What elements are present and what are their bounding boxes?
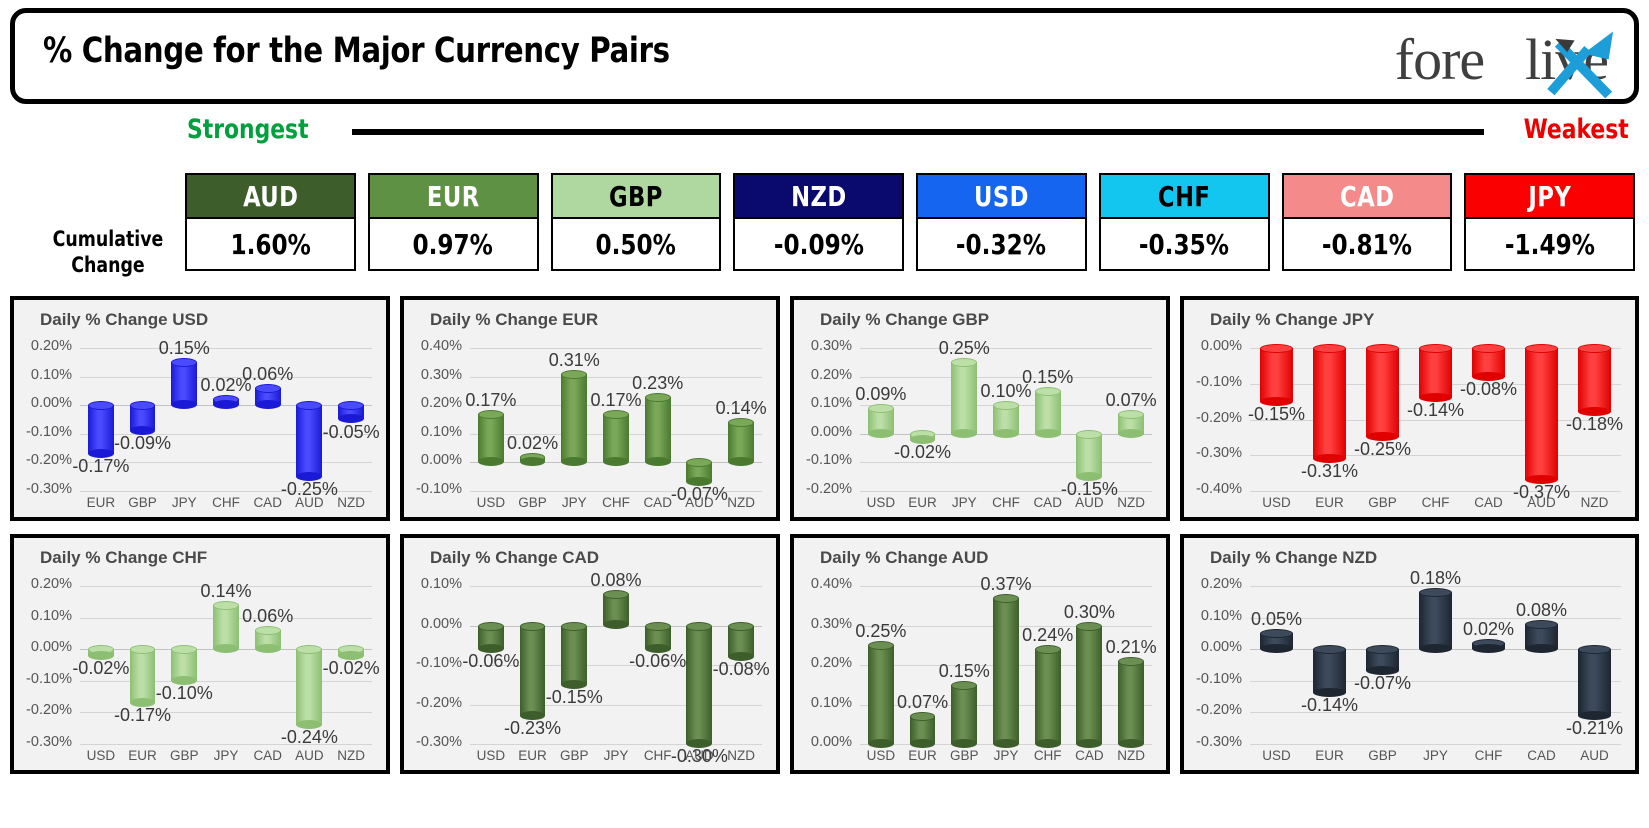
y-axis-tick-label: -0.10% bbox=[16, 671, 72, 687]
x-axis-tick-label: GBP bbox=[1356, 495, 1409, 510]
x-axis-tick-label: USD bbox=[860, 748, 902, 763]
x-axis-tick-label: EUR bbox=[1303, 748, 1356, 763]
bar-chf-jpy[interactable] bbox=[213, 605, 239, 649]
bar-cap-top bbox=[478, 410, 504, 419]
bar-gbp-eur[interactable] bbox=[910, 434, 936, 440]
bar-value-label: -0.24% bbox=[278, 727, 340, 748]
bar-cap-bottom bbox=[1525, 644, 1558, 653]
gridline bbox=[1250, 455, 1621, 456]
cumulative-cell-usd[interactable]: USD-0.32% bbox=[916, 173, 1087, 277]
bar-cap-bottom bbox=[645, 457, 671, 466]
gridline bbox=[470, 377, 762, 378]
x-axis-tick-label: GBP bbox=[1356, 748, 1409, 763]
bar-body bbox=[171, 362, 197, 405]
bar-cap-top bbox=[603, 590, 629, 599]
y-axis-tick-label: -0.20% bbox=[1186, 410, 1242, 426]
x-axis-tick-label: CHF bbox=[1409, 495, 1462, 510]
x-axis-tick-label: CHF bbox=[985, 495, 1027, 510]
bar-nzd-chf[interactable] bbox=[1472, 643, 1505, 649]
bar-body bbox=[1035, 391, 1061, 434]
y-axis-tick-label: 0.00% bbox=[1186, 639, 1242, 655]
bar-value-label: -0.14% bbox=[1299, 695, 1361, 716]
bar-body bbox=[1419, 348, 1452, 398]
bar-chf-usd[interactable] bbox=[88, 649, 114, 655]
cumulative-cell-aud[interactable]: AUD1.60% bbox=[185, 173, 356, 277]
chart-title-nzd: Daily % Change NZD bbox=[1210, 548, 1377, 568]
y-axis-tick-label: -0.30% bbox=[406, 734, 462, 750]
y-axis-tick-label: -0.20% bbox=[16, 452, 72, 468]
bar-body bbox=[1419, 592, 1452, 649]
bar-nzd-aud[interactable] bbox=[1578, 649, 1611, 715]
cumulative-value-text: -0.09% bbox=[774, 228, 864, 261]
gridline bbox=[470, 744, 762, 745]
bar-body bbox=[1260, 348, 1293, 402]
bar-value-label: -0.07% bbox=[1352, 673, 1414, 694]
x-axis-tick-label: USD bbox=[470, 748, 512, 763]
chart-title-eur: Daily % Change EUR bbox=[430, 310, 598, 330]
chart-title-jpy: Daily % Change JPY bbox=[1210, 310, 1374, 330]
bar-value-label: 0.06% bbox=[237, 606, 299, 627]
bar-value-label: -0.06% bbox=[627, 651, 689, 672]
x-axis-tick-label: JPY bbox=[205, 748, 247, 763]
x-axis-tick-label: JPY bbox=[943, 495, 985, 510]
currency-code-text: JPY bbox=[1528, 180, 1571, 213]
gridline bbox=[470, 348, 762, 349]
bar-cap-top bbox=[1419, 344, 1452, 353]
y-axis-tick-label: 0.30% bbox=[796, 616, 852, 632]
bar-cap-top bbox=[603, 410, 629, 419]
bar-value-label: 0.31% bbox=[543, 350, 605, 371]
bar-eur-aud[interactable] bbox=[686, 462, 712, 482]
bar-aud-usd[interactable] bbox=[868, 645, 894, 744]
cumulative-value-text: -1.49% bbox=[1505, 228, 1595, 261]
x-axis-tick-label: EUR bbox=[122, 748, 164, 763]
currency-code-cad: CAD bbox=[1282, 173, 1453, 219]
cumulative-value-text: 1.60% bbox=[230, 228, 310, 261]
y-axis-tick-label: -0.40% bbox=[1186, 481, 1242, 497]
x-axis-tick-label: CAD bbox=[1069, 748, 1111, 763]
bar-usd-aud[interactable] bbox=[296, 405, 322, 477]
chart-panel-jpy[interactable]: Daily % Change JPY0.00%-0.10%-0.20%-0.30… bbox=[1180, 296, 1639, 521]
y-axis-tick-label: 0.00% bbox=[1186, 338, 1242, 354]
bar-nzd-jpy[interactable] bbox=[1419, 592, 1452, 649]
bar-cad-usd[interactable] bbox=[478, 626, 504, 650]
bar-cap-top bbox=[561, 370, 587, 379]
y-axis-tick-label: -0.30% bbox=[1186, 445, 1242, 461]
gridline bbox=[860, 462, 1152, 463]
bar-cap-top bbox=[1260, 344, 1293, 353]
bar-cap-bottom bbox=[1118, 739, 1144, 748]
bar-aud-jpy[interactable] bbox=[993, 598, 1019, 744]
bar-jpy-eur[interactable] bbox=[1313, 348, 1346, 459]
x-axis-tick-label: CAD bbox=[247, 748, 289, 763]
x-axis-tick-label: GBP bbox=[163, 748, 205, 763]
bar-nzd-usd[interactable] bbox=[1260, 633, 1293, 649]
currency-code-text: NZD bbox=[791, 180, 847, 213]
bar-value-label: 0.02% bbox=[502, 433, 564, 454]
bar-cap-bottom bbox=[1419, 644, 1452, 653]
x-axis-tick-label: CAD bbox=[1462, 495, 1515, 510]
currency-code-text: EUR bbox=[427, 180, 480, 213]
x-axis-tick-label: NZD bbox=[1568, 495, 1621, 510]
bar-body bbox=[520, 626, 546, 717]
bar-value-label: -0.25% bbox=[1352, 439, 1414, 460]
currency-code-text: CAD bbox=[1340, 180, 1394, 213]
bar-value-label: -0.23% bbox=[502, 718, 564, 739]
bar-cad-aud[interactable] bbox=[686, 626, 712, 745]
bar-chf-aud[interactable] bbox=[296, 649, 322, 725]
bar-cap-top bbox=[645, 622, 671, 631]
y-axis-tick-label: 0.10% bbox=[796, 695, 852, 711]
bar-chf-gbp[interactable] bbox=[171, 649, 197, 681]
bar-cad-nzd[interactable] bbox=[728, 626, 754, 658]
bar-cap-top bbox=[561, 622, 587, 631]
bar-body bbox=[1525, 348, 1558, 480]
bar-cap-top bbox=[1035, 387, 1061, 396]
bar-value-label: 0.09% bbox=[850, 384, 912, 405]
bar-body bbox=[645, 397, 671, 463]
x-axis-tick-label: JPY bbox=[985, 748, 1027, 763]
page-title: % Change for the Major Currency Pairs bbox=[43, 31, 670, 71]
bar-cap-bottom bbox=[213, 644, 239, 653]
bar-cap-top bbox=[686, 622, 712, 631]
weakest-label: Weakest bbox=[1524, 114, 1629, 145]
bar-value-label: -0.02% bbox=[70, 658, 132, 679]
bar-value-label: 0.25% bbox=[850, 621, 912, 642]
chart-title-cad: Daily % Change CAD bbox=[430, 548, 599, 568]
strength-rail: Strongest Weakest bbox=[0, 112, 1649, 152]
bar-aud-chf[interactable] bbox=[1035, 649, 1061, 744]
strongest-label: Strongest bbox=[187, 114, 309, 145]
y-axis-tick-label: 0.20% bbox=[1186, 576, 1242, 592]
bar-aud-cad[interactable] bbox=[1076, 626, 1102, 745]
bar-cap-bottom bbox=[478, 457, 504, 466]
cumulative-value-text: -0.81% bbox=[1322, 228, 1412, 261]
chart-panel-cad[interactable]: Daily % Change CAD0.10%0.00%-0.10%-0.20%… bbox=[400, 534, 780, 774]
currency-code-nzd: NZD bbox=[733, 173, 904, 219]
x-axis-tick-label: CHF bbox=[205, 495, 247, 510]
rail-line bbox=[352, 129, 1484, 135]
bar-cap-top bbox=[1472, 344, 1505, 353]
bar-body bbox=[88, 405, 114, 454]
bar-usd-cad[interactable] bbox=[255, 388, 281, 405]
currency-code-aud: AUD bbox=[185, 173, 356, 219]
chart-title-usd: Daily % Change USD bbox=[40, 310, 208, 330]
y-axis-tick-label: 0.10% bbox=[406, 424, 462, 440]
bar-aud-eur[interactable] bbox=[910, 716, 936, 744]
bar-cap-top bbox=[1076, 430, 1102, 439]
currency-code-gbp: GBP bbox=[551, 173, 722, 219]
y-axis-tick-label: -0.10% bbox=[1186, 671, 1242, 687]
currency-code-text: AUD bbox=[243, 180, 298, 213]
x-axis-tick-label: GBP bbox=[122, 495, 164, 510]
bar-body bbox=[1366, 348, 1399, 437]
x-axis-tick-label: JPY bbox=[553, 495, 595, 510]
y-axis-tick-label: 0.00% bbox=[406, 616, 462, 632]
bar-cap-bottom bbox=[520, 457, 546, 466]
bar-value-label: 0.37% bbox=[975, 574, 1037, 595]
bar-aud-gbp[interactable] bbox=[951, 685, 977, 744]
bar-body bbox=[1076, 626, 1102, 745]
gridline bbox=[1250, 681, 1621, 682]
x-axis-tick-label: JPY bbox=[163, 495, 205, 510]
bar-value-label: 0.15% bbox=[153, 338, 215, 359]
bar-gbp-chf[interactable] bbox=[993, 405, 1019, 434]
cumulative-value-text: 0.50% bbox=[596, 228, 676, 261]
y-axis-tick-label: 0.20% bbox=[16, 338, 72, 354]
bar-eur-chf[interactable] bbox=[603, 414, 629, 463]
y-axis-tick-label: -0.10% bbox=[16, 424, 72, 440]
bar-cap-top bbox=[868, 404, 894, 413]
y-axis-tick-label: 0.40% bbox=[406, 338, 462, 354]
cumulative-value-chf: -0.35% bbox=[1099, 219, 1270, 271]
x-axis-tick-label: USD bbox=[860, 495, 902, 510]
bar-chf-nzd[interactable] bbox=[338, 649, 364, 655]
bar-cad-jpy[interactable] bbox=[603, 594, 629, 626]
y-axis-tick-label: -0.30% bbox=[16, 734, 72, 750]
x-axis-tick-label: CAD bbox=[1515, 748, 1568, 763]
y-axis-tick-label: 0.40% bbox=[796, 576, 852, 592]
y-axis-tick-label: 0.10% bbox=[1186, 608, 1242, 624]
x-axis-tick-label: EUR bbox=[902, 495, 944, 510]
chart-panel-eur[interactable]: Daily % Change EUR0.40%0.30%0.20%0.10%0.… bbox=[400, 296, 780, 521]
x-axis-tick-label: GBP bbox=[943, 748, 985, 763]
y-axis-tick-label: -0.10% bbox=[796, 452, 852, 468]
x-axis-tick-label: AUD bbox=[289, 748, 331, 763]
y-axis-tick-label: -0.20% bbox=[796, 481, 852, 497]
bar-cap-top bbox=[1035, 645, 1061, 654]
bar-value-label: 0.24% bbox=[1017, 625, 1079, 646]
cumulative-change-label: Cumulative Change bbox=[44, 226, 173, 279]
chart-panel-usd[interactable]: Daily % Change USD0.20%0.10%0.00%-0.10%-… bbox=[10, 296, 390, 521]
bar-eur-cad[interactable] bbox=[645, 397, 671, 463]
x-axis-tick-label: NZD bbox=[1110, 748, 1152, 763]
bar-value-label: -0.10% bbox=[153, 683, 215, 704]
bar-cap-bottom bbox=[1035, 739, 1061, 748]
bar-value-label: -0.05% bbox=[320, 422, 382, 443]
gridline bbox=[1250, 744, 1621, 745]
bar-jpy-aud[interactable] bbox=[1525, 348, 1558, 480]
y-axis-tick-label: -0.10% bbox=[1186, 374, 1242, 390]
cumulative-change-label-line1: Cumulative bbox=[44, 226, 173, 252]
bar-value-label: 0.07% bbox=[1100, 390, 1162, 411]
bar-jpy-cad[interactable] bbox=[1472, 348, 1505, 377]
chart-panel-nzd[interactable]: Daily % Change NZD0.20%0.10%0.00%-0.10%-… bbox=[1180, 534, 1639, 774]
bar-cap-bottom bbox=[255, 400, 281, 409]
bar-jpy-nzd[interactable] bbox=[1578, 348, 1611, 412]
bar-nzd-cad[interactable] bbox=[1525, 624, 1558, 649]
x-axis-tick-label: NZD bbox=[330, 495, 372, 510]
bar-gbp-nzd[interactable] bbox=[1118, 414, 1144, 434]
bar-chf-eur[interactable] bbox=[130, 649, 156, 703]
bar-value-label: 0.06% bbox=[237, 364, 299, 385]
bar-eur-jpy[interactable] bbox=[561, 374, 587, 463]
x-axis-tick-label: NZD bbox=[720, 495, 762, 510]
cumulative-cell-cad[interactable]: CAD-0.81% bbox=[1282, 173, 1453, 277]
y-axis-tick-label: 0.00% bbox=[16, 395, 72, 411]
bar-nzd-eur[interactable] bbox=[1313, 649, 1346, 693]
bar-value-label: -0.02% bbox=[320, 658, 382, 679]
bar-value-label: -0.02% bbox=[892, 442, 954, 463]
x-axis-tick-label: NZD bbox=[720, 748, 762, 763]
bar-body bbox=[868, 645, 894, 744]
bar-cap-top bbox=[255, 384, 281, 393]
bar-jpy-usd[interactable] bbox=[1260, 348, 1293, 402]
x-axis-tick-label: AUD bbox=[679, 748, 721, 763]
x-axis-tick-label: EUR bbox=[512, 748, 554, 763]
bar-cap-bottom bbox=[910, 739, 936, 748]
bar-value-label: -0.06% bbox=[460, 651, 522, 672]
cumulative-change-row: AUD1.60%EUR0.97%GBP0.50%NZD-0.09%USD-0.3… bbox=[185, 173, 1635, 277]
bar-value-label: -0.31% bbox=[1299, 461, 1361, 482]
bar-cap-top bbox=[1525, 620, 1558, 629]
bar-usd-eur[interactable] bbox=[88, 405, 114, 454]
bar-usd-jpy[interactable] bbox=[171, 362, 197, 405]
bar-value-label: 0.15% bbox=[1017, 367, 1079, 388]
bar-cap-bottom bbox=[1118, 429, 1144, 438]
gridline bbox=[860, 377, 1152, 378]
y-axis-tick-label: 0.10% bbox=[796, 395, 852, 411]
bar-body bbox=[478, 414, 504, 463]
bar-value-label: 0.14% bbox=[710, 398, 772, 419]
y-axis-tick-label: 0.30% bbox=[796, 338, 852, 354]
x-axis-tick-label: AUD bbox=[679, 495, 721, 510]
bar-cap-bottom bbox=[728, 457, 754, 466]
gridline bbox=[470, 705, 762, 706]
bar-usd-gbp[interactable] bbox=[130, 405, 156, 431]
bar-nzd-gbp[interactable] bbox=[1366, 649, 1399, 671]
bar-cap-top bbox=[1076, 622, 1102, 631]
bar-eur-usd[interactable] bbox=[478, 414, 504, 463]
cumulative-cell-nzd[interactable]: NZD-0.09% bbox=[733, 173, 904, 277]
header-bar: % Change for the Major Currency Pairs fo… bbox=[10, 8, 1639, 104]
y-axis-tick-label: 0.10% bbox=[16, 608, 72, 624]
bar-value-label: 0.08% bbox=[1511, 600, 1573, 621]
bar-eur-gbp[interactable] bbox=[520, 457, 546, 463]
cumulative-cell-jpy[interactable]: JPY-1.49% bbox=[1464, 173, 1635, 277]
bar-value-label: 0.18% bbox=[1405, 568, 1467, 589]
y-axis-tick-label: 0.20% bbox=[796, 655, 852, 671]
cumulative-cell-eur[interactable]: EUR0.97% bbox=[368, 173, 539, 277]
x-axis-tick-label: AUD bbox=[289, 495, 331, 510]
bar-cap-top bbox=[1313, 344, 1346, 353]
bar-cap-top bbox=[951, 681, 977, 690]
bar-body bbox=[1035, 649, 1061, 744]
bar-value-label: -0.15% bbox=[543, 687, 605, 708]
bar-value-label: -0.17% bbox=[70, 456, 132, 477]
bar-gbp-usd[interactable] bbox=[868, 408, 894, 434]
bar-cap-top bbox=[1118, 657, 1144, 666]
x-axis-tick-label: EUR bbox=[80, 495, 122, 510]
x-axis-tick-label: CHF bbox=[1462, 748, 1515, 763]
bar-cap-bottom bbox=[1260, 644, 1293, 653]
x-axis-tick-label: NZD bbox=[330, 748, 372, 763]
bar-usd-nzd[interactable] bbox=[338, 405, 364, 419]
x-axis-tick-label: CHF bbox=[595, 495, 637, 510]
y-axis-tick-label: -0.10% bbox=[406, 655, 462, 671]
bar-cad-gbp[interactable] bbox=[561, 626, 587, 685]
bar-value-label: -0.08% bbox=[1458, 379, 1520, 400]
bar-value-label: 0.05% bbox=[1246, 609, 1308, 630]
cumulative-value-text: -0.32% bbox=[956, 228, 1046, 261]
bar-cap-bottom bbox=[171, 400, 197, 409]
forexlive-x-arrow-icon bbox=[1543, 27, 1621, 101]
bar-jpy-gbp[interactable] bbox=[1366, 348, 1399, 437]
bar-cap-bottom bbox=[951, 739, 977, 748]
bar-body bbox=[296, 405, 322, 477]
bar-eur-nzd[interactable] bbox=[728, 422, 754, 462]
cumulative-value-jpy: -1.49% bbox=[1464, 219, 1635, 271]
bar-cap-bottom bbox=[1472, 644, 1505, 653]
bar-body bbox=[1578, 348, 1611, 412]
bar-jpy-chf[interactable] bbox=[1419, 348, 1452, 398]
x-axis-tick-label: CHF bbox=[1027, 748, 1069, 763]
bar-cap-top bbox=[478, 622, 504, 631]
bar-cap-top bbox=[213, 601, 239, 610]
bar-value-label: 0.14% bbox=[195, 581, 257, 602]
y-axis-tick-label: -0.30% bbox=[16, 481, 72, 497]
bar-cap-bottom bbox=[561, 457, 587, 466]
bar-body bbox=[1118, 661, 1144, 744]
x-axis-tick-label: USD bbox=[1250, 748, 1303, 763]
bar-body bbox=[1076, 434, 1102, 477]
bar-value-label: 0.23% bbox=[627, 373, 689, 394]
y-axis-tick-label: 0.30% bbox=[406, 367, 462, 383]
chart-panel-aud[interactable]: Daily % Change AUD0.40%0.30%0.20%0.10%0.… bbox=[790, 534, 1170, 774]
gridline bbox=[80, 348, 372, 349]
chart-title-aud: Daily % Change AUD bbox=[820, 548, 988, 568]
x-axis-tick-label: AUD bbox=[1069, 495, 1111, 510]
currency-code-text: CHF bbox=[1158, 180, 1210, 213]
bar-cad-eur[interactable] bbox=[520, 626, 546, 717]
bar-usd-chf[interactable] bbox=[213, 399, 239, 405]
chart-panel-gbp[interactable]: Daily % Change GBP0.30%0.20%0.10%0.00%-0… bbox=[790, 296, 1170, 521]
bar-chf-cad[interactable] bbox=[255, 630, 281, 649]
gridline bbox=[80, 681, 372, 682]
bar-value-label: 0.08% bbox=[585, 570, 647, 591]
bar-cap-bottom bbox=[993, 429, 1019, 438]
cumulative-cell-chf[interactable]: CHF-0.35% bbox=[1099, 173, 1270, 277]
bar-value-label: -0.18% bbox=[1564, 414, 1626, 435]
y-axis-tick-label: 0.00% bbox=[796, 734, 852, 750]
bar-value-label: 0.07% bbox=[892, 692, 954, 713]
cumulative-cell-gbp[interactable]: GBP0.50% bbox=[551, 173, 722, 277]
bar-cap-bottom bbox=[868, 739, 894, 748]
currency-code-usd: USD bbox=[916, 173, 1087, 219]
cumulative-value-gbp: 0.50% bbox=[551, 219, 722, 271]
chart-panel-chf[interactable]: Daily % Change CHF0.20%0.10%0.00%-0.10%-… bbox=[10, 534, 390, 774]
bar-gbp-jpy[interactable] bbox=[951, 362, 977, 434]
logo-text-fore: fore bbox=[1395, 27, 1484, 92]
x-axis-tick-label: USD bbox=[1250, 495, 1303, 510]
bar-cap-bottom bbox=[951, 429, 977, 438]
cumulative-value-eur: 0.97% bbox=[368, 219, 539, 271]
bar-gbp-aud[interactable] bbox=[1076, 434, 1102, 477]
bar-value-label: -0.21% bbox=[1564, 718, 1626, 739]
cumulative-value-text: -0.35% bbox=[1139, 228, 1229, 261]
x-axis-tick-label: EUR bbox=[1303, 495, 1356, 510]
bar-cad-chf[interactable] bbox=[645, 626, 671, 650]
bar-value-label: -0.09% bbox=[112, 433, 174, 454]
cumulative-value-aud: 1.60% bbox=[185, 219, 356, 271]
bar-aud-nzd[interactable] bbox=[1118, 661, 1144, 744]
bar-body bbox=[1313, 649, 1346, 693]
bar-body bbox=[296, 649, 322, 725]
y-axis-tick-label: -0.20% bbox=[406, 695, 462, 711]
cumulative-value-nzd: -0.09% bbox=[733, 219, 904, 271]
bar-gbp-cad[interactable] bbox=[1035, 391, 1061, 434]
bar-cap-top bbox=[1118, 410, 1144, 419]
